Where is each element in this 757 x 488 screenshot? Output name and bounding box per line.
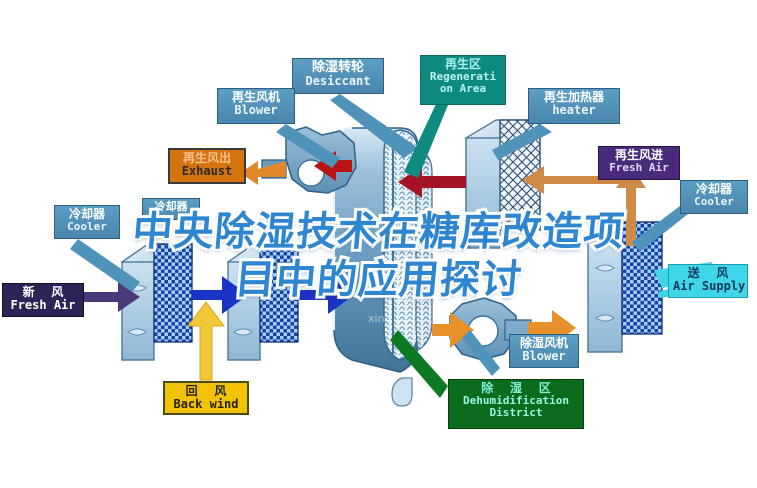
- label-regeneration-area: 再生区Regenerati on Area: [420, 55, 506, 105]
- label-regen-heater-en: heater: [533, 104, 615, 117]
- label-regen-fresh-air-in: 再生风进Fresh Air: [598, 146, 680, 180]
- label-regen-blower-en: Blower: [222, 104, 290, 117]
- label-dehumid-blower-en: Blower: [514, 350, 574, 363]
- label-exhaust-en: Exhaust: [174, 165, 240, 178]
- label-fresh-air-in-cn: 新 风: [7, 286, 79, 299]
- cooler-inlet-2: [228, 244, 298, 360]
- label-exhaust-cn: 再生风出: [174, 152, 240, 165]
- label-cooler-right-en: Cooler: [685, 196, 743, 208]
- label-cooler-left-lower-cn: 冷却器: [147, 201, 195, 213]
- label-dehumidification-area-en: Dehumidification District: [453, 395, 579, 419]
- condensate-drip: [392, 378, 412, 406]
- label-fresh-air-in: 新 风Fresh Air: [2, 283, 84, 317]
- label-cooler-left-upper-cn: 冷却器: [59, 208, 115, 221]
- label-back-wind: 回 风Back wind: [163, 381, 249, 415]
- label-desiccant-rotor-cn: 除湿转轮: [297, 61, 379, 75]
- label-regen-fresh-air-in-cn: 再生风进: [603, 149, 675, 162]
- label-dehumid-blower: 除湿风机Blower: [509, 334, 579, 368]
- label-dehumidification-area-cn: 除 湿 区: [453, 382, 579, 395]
- label-back-wind-cn: 回 风: [169, 385, 243, 398]
- label-cooler-left-upper: 冷却器Cooler: [54, 205, 120, 239]
- label-fresh-air-in-en: Fresh Air: [7, 299, 79, 312]
- label-regen-blower: 再生风机Blower: [217, 88, 295, 124]
- back-wind-arrow: [188, 302, 224, 380]
- label-regeneration-area-cn: 再生区: [425, 58, 501, 71]
- svg-text:xin: xin: [368, 312, 385, 325]
- label-regen-fresh-air-in-en: Fresh Air: [603, 162, 675, 174]
- label-regen-heater: 再生加热器heater: [528, 88, 620, 124]
- label-regeneration-area-en: Regenerati on Area: [425, 71, 501, 95]
- label-cooler-right: 冷却器Cooler: [680, 180, 748, 214]
- label-cooler-left-lower: 冷却器: [142, 198, 200, 220]
- label-dehumid-blower-cn: 除湿风机: [514, 337, 574, 350]
- label-dehumidification-area: 除 湿 区Dehumidification District: [448, 379, 584, 429]
- label-regen-blower-cn: 再生风机: [222, 91, 290, 104]
- diagram-canvas: xin: [0, 0, 757, 488]
- label-regen-heater-cn: 再生加热器: [533, 91, 615, 104]
- label-desiccant-rotor: 除湿转轮Desiccant: [292, 58, 384, 94]
- label-desiccant-rotor-en: Desiccant: [297, 75, 379, 88]
- label-exhaust: 再生风出Exhaust: [168, 148, 246, 184]
- label-cooler-left-upper-en: Cooler: [59, 221, 115, 233]
- label-back-wind-en: Back wind: [169, 398, 243, 411]
- label-air-supply-cn: 送 风: [673, 267, 743, 280]
- label-cooler-right-cn: 冷却器: [685, 183, 743, 196]
- label-air-supply-en: Air Supply: [673, 280, 743, 293]
- label-air-supply: 送 风Air Supply: [668, 264, 748, 298]
